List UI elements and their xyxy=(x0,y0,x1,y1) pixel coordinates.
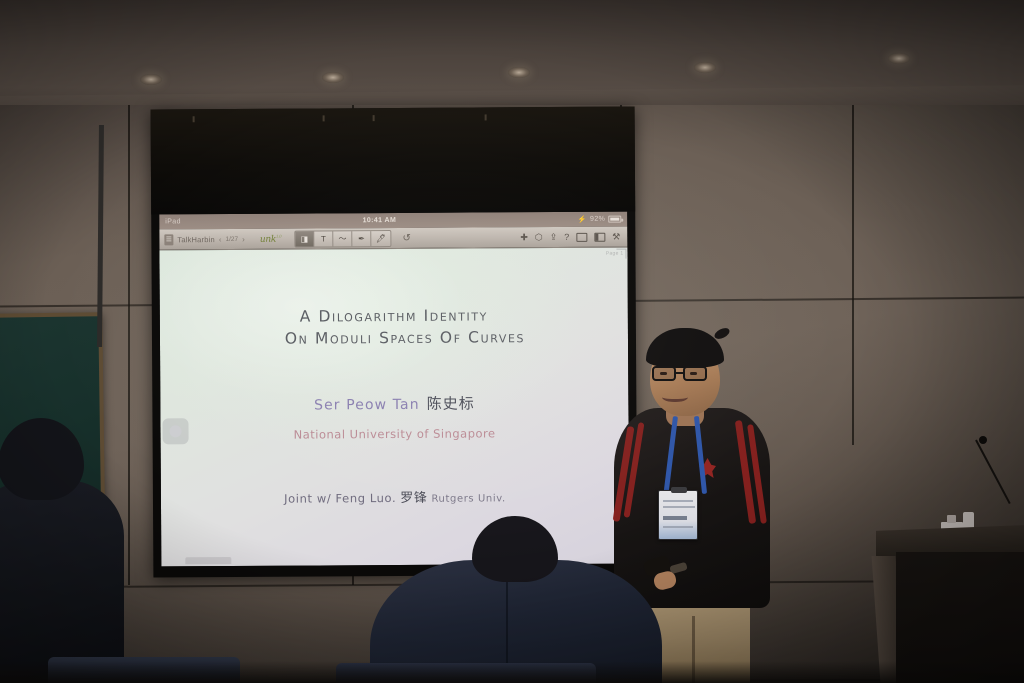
canvas-bottom-tab[interactable] xyxy=(185,557,231,564)
eyeglasses-bridge xyxy=(674,372,683,374)
battery-icon xyxy=(608,216,621,223)
chevron-left-icon[interactable]: ‹ xyxy=(219,235,222,244)
ceiling-light xyxy=(888,53,910,64)
badge-text-line xyxy=(663,500,693,502)
microphone-head xyxy=(979,436,987,444)
document-icon[interactable] xyxy=(164,234,173,245)
audience-head xyxy=(0,418,84,500)
audience-coat xyxy=(0,480,124,683)
valance-hook xyxy=(485,114,487,120)
audience-member-center xyxy=(356,508,676,683)
page-indicator: 1/27 xyxy=(225,235,238,242)
toolbar-right-group[interactable]: ✚ ⬡ ⇪ ? ⚒ xyxy=(520,232,622,242)
drawing-tool-group[interactable]: ◨ T 〜 ✒ 🖊 xyxy=(294,230,391,248)
text-tool-button[interactable]: T xyxy=(314,231,333,246)
slide-author: Ser Peow Tan陈史标 xyxy=(160,392,628,416)
ipad-app-toolbar[interactable]: TalkHarbin ‹ 1/27 › unk1.0 ◨ T 〜 ✒ 🖊 ↺ xyxy=(159,227,627,251)
joint-institution-label: Rutgers Univ. xyxy=(431,493,505,504)
pen-tool-button[interactable]: ✒ xyxy=(352,231,371,246)
status-clock: 10:41 AM xyxy=(181,216,578,225)
highlighter-tool-button[interactable]: 🖊 xyxy=(371,231,390,246)
ceiling-light xyxy=(322,72,344,83)
page-view-icon[interactable] xyxy=(594,232,605,241)
foreground-shadow xyxy=(0,661,1024,683)
document-nav-group[interactable]: TalkHarbin ‹ 1/27 › xyxy=(164,233,245,244)
image-icon[interactable] xyxy=(576,232,587,241)
audience-head xyxy=(472,516,558,582)
affiliation-label: National University of Singapore xyxy=(294,426,496,441)
audience-member-left xyxy=(0,418,120,683)
lecture-hall-photo: iPad 10:41 AM ⚡ 92% TalkHarbin ‹ 1/27 › xyxy=(0,0,1024,683)
projection-screen: iPad 10:41 AM ⚡ 92% TalkHarbin ‹ 1/27 › xyxy=(151,107,638,578)
slide-title-line1: A Dilogarithm Identity xyxy=(300,306,488,325)
status-right-group: ⚡ 92% xyxy=(578,215,621,223)
valance-hook xyxy=(373,115,375,121)
joint-chinese-name: 罗锋 xyxy=(400,491,427,506)
presenter-smile xyxy=(662,392,688,402)
ceiling-light xyxy=(508,67,530,78)
ceiling-light xyxy=(140,74,162,85)
joint-prefix-label: Joint w/ Feng Luo. xyxy=(284,491,396,506)
document-title[interactable]: TalkHarbin xyxy=(177,235,214,244)
wall-seam xyxy=(128,105,130,585)
valance-hook xyxy=(193,116,195,122)
ceiling xyxy=(0,0,1024,122)
badge-clip xyxy=(671,487,687,493)
presenter-hair xyxy=(646,328,724,368)
page-corner-label: Page 1 xyxy=(606,251,624,257)
app-version-label: 1.0 xyxy=(276,233,281,238)
share-icon[interactable]: ⇪ xyxy=(550,233,558,242)
author-chinese-name: 陈史标 xyxy=(427,395,475,413)
slide-joint-work: Joint w/ Feng Luo.罗锋Rutgers Univ. xyxy=(161,486,629,508)
undo-icon[interactable]: ↺ xyxy=(402,232,410,243)
presenter-eye xyxy=(690,372,697,375)
settings-wrench-icon[interactable]: ⚒ xyxy=(612,232,620,241)
chevron-right-icon[interactable]: › xyxy=(242,234,245,243)
slide-affiliation: National University of Singapore xyxy=(161,426,629,443)
presenter-eye xyxy=(660,372,667,375)
help-icon[interactable]: ? xyxy=(564,232,569,241)
app-logo: unk1.0 xyxy=(260,233,282,244)
device-label: iPad xyxy=(165,218,181,225)
author-latin-name: Ser Peow Tan xyxy=(314,397,420,414)
ceiling-light xyxy=(694,62,716,73)
selection-tool-button[interactable]: ◨ xyxy=(295,231,314,246)
slide-title: A Dilogarithm Identity On Moduli Spaces … xyxy=(160,304,628,351)
lightning-bolt-icon: ⚡ xyxy=(578,215,587,223)
lasso-tool-button[interactable]: 〜 xyxy=(333,231,352,246)
wall-seam xyxy=(852,105,854,445)
valance-hook xyxy=(323,115,325,121)
screen-valance xyxy=(151,107,636,215)
slide-title-line2: On Moduli Spaces Of Curves xyxy=(160,326,628,351)
add-icon[interactable]: ✚ xyxy=(520,233,528,242)
shapes-icon[interactable]: ⬡ xyxy=(535,233,543,242)
podium-cup xyxy=(947,515,956,523)
battery-percent-label: 92% xyxy=(590,216,605,223)
